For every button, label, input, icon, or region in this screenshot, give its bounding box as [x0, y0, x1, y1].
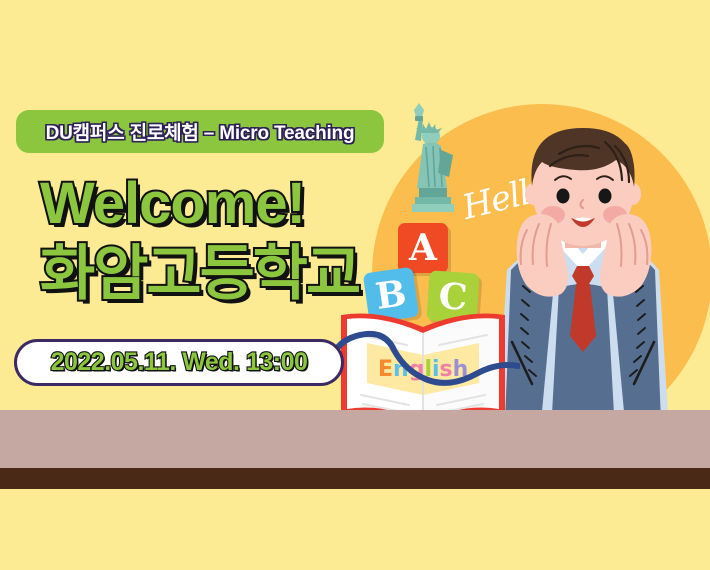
page-title: Welcome! 화암고등학교: [40, 172, 380, 306]
headline-school-name: 화암고등학교: [40, 242, 380, 306]
alphabet-block-a: A: [398, 223, 448, 273]
program-title-badge: DU캠퍼스 진로체험 – Micro Teaching: [16, 110, 384, 153]
program-title-text: DU캠퍼스 진로체험 – Micro Teaching: [46, 118, 355, 145]
desk-surface: [0, 410, 710, 468]
statue-of-liberty-icon: [393, 92, 463, 212]
desk-edge: [0, 468, 710, 489]
blue-squiggle-line: [330, 312, 520, 392]
headline-welcome: Welcome!: [40, 172, 380, 236]
desk-lower-area: [0, 489, 710, 570]
event-datetime-text: 2022.05.11. Wed. 13:00: [51, 348, 308, 377]
event-datetime-pill: 2022.05.11. Wed. 13:00: [14, 339, 344, 386]
poster-canvas: Hello: [0, 0, 710, 570]
